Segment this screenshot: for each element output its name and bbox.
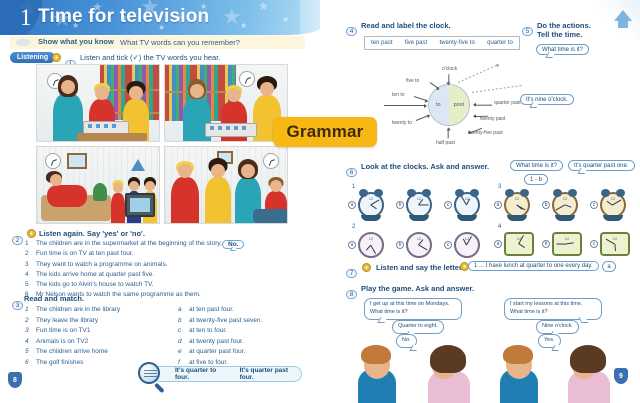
- clock-option[interactable]: a12: [348, 192, 384, 218]
- list-item-number: c: [178, 326, 189, 337]
- clock-base: [409, 215, 429, 221]
- list-item-number: b: [178, 316, 189, 327]
- list-item-text: The kids arrive home at quarter past fiv…: [36, 270, 154, 280]
- word-bank-item[interactable]: twenty-five to: [439, 40, 474, 46]
- clock-option[interactable]: c12: [444, 232, 480, 258]
- minute-hand: [557, 243, 567, 244]
- show-what-you-know-question: What TV words can you remember?: [120, 38, 240, 47]
- alarm-bell-icon: [374, 189, 383, 197]
- clock-option-letter: a: [348, 201, 356, 209]
- minute-hand: [419, 245, 428, 251]
- word-bank-item[interactable]: ten past: [371, 40, 392, 46]
- pronunciation-callout: It's quarter to four. It's quarter past …: [152, 366, 302, 382]
- clock-12-marker: 12: [369, 236, 373, 241]
- exercise-4-instruction: Read and label the clock.: [361, 21, 451, 30]
- clock-face: 12: [358, 192, 384, 218]
- clock-12-marker: 12: [369, 196, 373, 201]
- clock-face: 12: [504, 192, 530, 218]
- exercise-3-number: 3: [12, 294, 23, 312]
- bubble-line: I start my lessons at this time.: [510, 301, 596, 309]
- clock-option-letter: c: [444, 201, 452, 209]
- clock-option[interactable]: b12: [396, 232, 432, 258]
- alarm-bell-icon: [553, 189, 562, 197]
- exercise-2-answer-bubble: No.: [222, 240, 244, 249]
- list-item-text: at quarter past four.: [189, 347, 245, 358]
- clock-base: [457, 215, 477, 221]
- alarm-bell-icon: [455, 189, 464, 197]
- hour-hand: [565, 204, 572, 208]
- exercise-7-answer-letter: a: [602, 261, 616, 272]
- grammar-tab-label: Grammar: [287, 122, 364, 142]
- unit-number: 1: [20, 5, 32, 31]
- wheel-label-to: to: [436, 102, 441, 108]
- book-spread: ★ ★ ★ ★ ★ ★ ★ ★ ★ ★ ★ ★ ★ ★ 1 Time for t…: [0, 0, 640, 403]
- exercise-5-answer-bubble: It's nine o'clock.: [520, 94, 574, 105]
- story-frame-2[interactable]: [164, 64, 288, 142]
- exercise-2-item[interactable]: 3They want to watch a programme on anima…: [25, 260, 265, 270]
- exercise-8-guess-bubble-2: Nine o'clock.: [536, 320, 579, 334]
- wheel-circle: to post: [428, 84, 470, 126]
- list-item-text: at ten to four.: [189, 326, 227, 337]
- hour-hand: [614, 244, 616, 251]
- girl-photo-2: [566, 345, 612, 403]
- alarm-bell-icon: [505, 189, 514, 197]
- page-number-left: 8: [8, 372, 22, 388]
- boy-photo-1: [356, 345, 398, 403]
- minute-hand: [556, 205, 565, 211]
- wheel-label-past: post: [454, 102, 464, 108]
- bubble-line: What time is it?: [510, 309, 596, 317]
- boy-photo-2: [498, 345, 540, 403]
- exercise-3-left-item[interactable]: 1The children are in the library: [25, 305, 175, 316]
- exercise-4-number: 4: [346, 20, 357, 29]
- hour-hand: [519, 243, 526, 248]
- list-item-text: The children are in the library: [36, 305, 120, 316]
- clock-face: 12: [454, 232, 480, 258]
- alarm-bell-icon: [520, 189, 529, 197]
- clock-option[interactable]: c12: [590, 192, 626, 218]
- bubble-line: I get up at this time on Mondays.: [370, 301, 456, 309]
- clock-option-letter: b: [542, 201, 550, 209]
- list-item-text: Animals is on TV2: [36, 337, 88, 348]
- clock-base: [507, 215, 527, 221]
- exercise-7-example-bubble: 1 ... I have lunch at quarter to one eve…: [468, 261, 599, 271]
- word-bank-item[interactable]: quarter to: [487, 40, 513, 46]
- speech-cloud-icon: [16, 39, 30, 46]
- exercise-3-right-item[interactable]: cat ten to four.: [178, 326, 308, 337]
- clock-option[interactable]: c12: [444, 192, 480, 218]
- alarm-bell-icon: [407, 189, 416, 197]
- hour-hand: [371, 204, 378, 209]
- minute-hand: [419, 204, 429, 205]
- clock-base: [361, 215, 381, 221]
- cd-audio-icon-2: [27, 229, 36, 238]
- exercise-3-left-item[interactable]: 5The children arrive home: [25, 347, 175, 358]
- clock-face: 12: [600, 232, 630, 256]
- list-item-text: at ten past four.: [189, 305, 234, 316]
- clock-option-letter: a: [494, 240, 502, 248]
- clock-face: 12: [406, 192, 432, 218]
- alarm-bell-icon: [470, 189, 479, 197]
- alarm-bell-icon: [616, 189, 625, 197]
- clock-option[interactable]: b12: [542, 192, 578, 218]
- list-item-text: They want to watch a programme on animal…: [36, 260, 168, 270]
- exercise-7-instruction: Listen and say the letter.: [376, 263, 464, 272]
- exercise-2-instruction: Listen again. Say 'yes' or 'no'.: [39, 229, 145, 238]
- up-arrow-stem-icon: [618, 19, 628, 28]
- wheel-label-twenty-to: twenty to: [392, 120, 412, 126]
- minute-hand: [371, 245, 377, 254]
- clock-option-letter: c: [444, 241, 452, 249]
- exercise-3-right-column: aat ten past four.bat twenty-five past s…: [178, 305, 308, 368]
- wheel-label-ten-to: ten to: [392, 92, 405, 98]
- exercise-5-instruction-line1: Do the actions.: [537, 21, 591, 30]
- exercise-3-left-item[interactable]: 2They leave the library: [25, 316, 175, 327]
- story-frame-4[interactable]: [164, 146, 288, 224]
- exercise-5-instruction-line2: Tell the time.: [537, 30, 582, 39]
- wheel-label-quarter-past: quarter past: [494, 100, 521, 106]
- alarm-bell-icon: [422, 189, 431, 197]
- callout-phrase-2: It's quarter past four.: [240, 367, 301, 381]
- story-picture-grid: [36, 64, 288, 224]
- list-item-number: 1: [25, 239, 36, 249]
- show-what-you-know-label: Show what you know: [38, 37, 114, 46]
- list-item-number: a: [178, 305, 189, 316]
- exercise-8-instruction: Play the game. Ask and answer.: [361, 284, 474, 293]
- clock-12-marker: 12: [515, 196, 519, 201]
- clock-option-letter: b: [396, 241, 404, 249]
- clock-option[interactable]: a12: [494, 232, 534, 256]
- exercise-2-item[interactable]: 4The kids arrive home at quarter past fi…: [25, 270, 265, 280]
- clock-option-letter: c: [590, 240, 598, 248]
- exercise-3-left-item[interactable]: 4Animals is on TV2: [25, 337, 175, 348]
- exercise-1-instruction: Listen and tick (✓) the TV words you hea…: [80, 53, 220, 62]
- list-item-text: at twenty past four.: [189, 337, 244, 348]
- wheel-label-twenty-past: twenty past: [480, 116, 505, 122]
- list-item-text: The children arrive home: [36, 347, 108, 358]
- clock-face: 12: [358, 232, 384, 258]
- exercise-8-question-bubble-2: I start my lessons at this time.What tim…: [504, 298, 602, 320]
- exercise-7-number: 7: [346, 262, 357, 271]
- clock-group-label-4: 4: [498, 224, 501, 230]
- alarm-bell-icon: [601, 189, 610, 197]
- list-item-text: Fun time is on TV at ten past four.: [36, 249, 133, 259]
- exercise-3-right-item[interactable]: dat twenty past four.: [178, 337, 308, 348]
- clock-face: 12: [454, 192, 480, 218]
- cd-audio-icon-3: [362, 263, 371, 272]
- list-item-number: 4: [25, 270, 36, 280]
- list-item-number: 2: [25, 249, 36, 259]
- exercise-3-right-item[interactable]: eat quarter past four.: [178, 347, 308, 358]
- list-item-number: 3: [25, 326, 36, 337]
- clock-face: 12: [552, 232, 582, 256]
- exercise-3-instruction: Read and match.: [24, 294, 84, 303]
- story-frame-3[interactable]: [36, 146, 160, 224]
- alarm-bell-icon: [568, 189, 577, 197]
- exercise-6-example-answer: 1 - b: [524, 174, 548, 185]
- exercise-8-number: 8: [346, 283, 357, 292]
- exercise-5-number: 5: [522, 20, 533, 29]
- exercise-6-question-bubble: What time is it?: [510, 160, 563, 171]
- list-item-number: 5: [25, 347, 36, 358]
- clock-option-letter: c: [590, 201, 598, 209]
- alarm-bell-icon: [359, 189, 368, 197]
- list-item-number: 5: [25, 280, 36, 290]
- exercise-5-question-bubble: What time is it?: [536, 44, 589, 55]
- clock-option-letter: a: [494, 201, 502, 209]
- clock-option[interactable]: b12: [396, 192, 432, 218]
- story-frame-1[interactable]: [36, 64, 160, 142]
- unit-title: Time for television: [38, 6, 209, 28]
- clock-option[interactable]: b12: [542, 232, 582, 256]
- clock-face: 12: [552, 192, 578, 218]
- right-page: 4 Read and label the clock. ten past fiv…: [320, 0, 640, 403]
- clock-face: 12: [504, 232, 534, 256]
- exercise-3-right-item[interactable]: aat ten past four.: [178, 305, 308, 316]
- list-item-number: d: [178, 337, 189, 348]
- girl-photo-1: [426, 345, 472, 403]
- list-item-number: 6: [25, 358, 36, 369]
- clock-group-label-3: 3: [498, 184, 501, 190]
- list-item-text: They leave the library: [36, 316, 98, 327]
- clock-face: 12: [600, 192, 626, 218]
- exercise-6-answer-bubble: It's quarter past one.: [568, 160, 635, 171]
- grammar-tab-flag[interactable]: Grammar: [273, 117, 377, 147]
- bubble-line: What time is it?: [370, 309, 456, 317]
- exercise-8-reply-bubble-1: No.: [396, 334, 417, 348]
- clock-option[interactable]: a12: [348, 232, 384, 258]
- clock-option[interactable]: a12: [494, 192, 530, 218]
- page-number-right: 9: [614, 368, 628, 384]
- list-item-number: e: [178, 347, 189, 358]
- clock-option-letter: b: [542, 240, 550, 248]
- exercise-3-right-item[interactable]: bat twenty-five past seven.: [178, 316, 308, 327]
- clock-option-letter: a: [348, 241, 356, 249]
- exercise-4-word-bank: ten past five past twenty-five to quarte…: [364, 36, 520, 50]
- clock-face: 12: [406, 232, 432, 258]
- clock-12-marker: 12: [611, 196, 615, 201]
- clock-base: [555, 215, 575, 221]
- clock-group-label-1: 1: [352, 184, 355, 190]
- exercise-3-left-column: 1The children are in the library2They le…: [25, 305, 175, 368]
- listening-pill: Listening: [10, 52, 55, 63]
- clock-option[interactable]: c12: [590, 232, 630, 256]
- exercise-8-reply-bubble-2: Yes.: [538, 334, 561, 348]
- exercise-2-number: 2: [12, 229, 23, 247]
- list-item-text: The golf finishes: [36, 358, 83, 369]
- clock-12-marker: 12: [565, 236, 569, 241]
- wheel-label-five-to: five to: [406, 78, 419, 84]
- wheel-label-half-past: half past: [436, 140, 455, 146]
- unit-banner: ★ ★ ★ ★ ★ ★ ★ ★ ★ ★ ★ ★ ★ ★ 1 Time for t…: [0, 0, 330, 35]
- list-item-text: at twenty-five past seven.: [189, 316, 262, 327]
- magnifier-icon: [138, 362, 160, 384]
- callout-phrase-1: It's quarter to four.: [175, 367, 230, 381]
- list-item-text: The kids go to Alvin's house to watch TV…: [36, 280, 154, 290]
- exercise-2-item[interactable]: 5The kids go to Alvin's house to watch T…: [25, 280, 265, 290]
- exercise-6-instruction: Look at the clocks. Ask and answer.: [361, 162, 489, 171]
- list-item-number: 2: [25, 316, 36, 327]
- left-page: ★ ★ ★ ★ ★ ★ ★ ★ ★ ★ ★ ★ ★ ★ 1 Time for t…: [0, 0, 320, 403]
- list-item-text: The children are in the supermarket at t…: [36, 239, 222, 249]
- exercise-6-number: 6: [346, 161, 357, 170]
- clock-12-marker: 12: [563, 196, 567, 201]
- list-item-number: 1: [25, 305, 36, 316]
- exercise-3-left-item[interactable]: 3Fun time is on TV1: [25, 326, 175, 337]
- clock-group-label-2: 2: [352, 224, 355, 230]
- clock-12-marker: 12: [613, 236, 617, 241]
- list-item-text: Fun time is on TV1: [36, 326, 90, 337]
- clock-option-letter: b: [396, 201, 404, 209]
- clock-base: [603, 215, 623, 221]
- word-bank-item[interactable]: five past: [405, 40, 427, 46]
- exercise-8-question-bubble-1: I get up at this time on Mondays.What ti…: [364, 298, 462, 320]
- wheel-label-oclock: o'clock: [442, 66, 457, 72]
- cd-audio-icon: [52, 53, 61, 62]
- exercise-8-guess-bubble-1: Quarter to eight.: [392, 320, 444, 334]
- list-item-number: 4: [25, 337, 36, 348]
- hour-hand: [567, 242, 574, 244]
- list-item-number: 3: [25, 260, 36, 270]
